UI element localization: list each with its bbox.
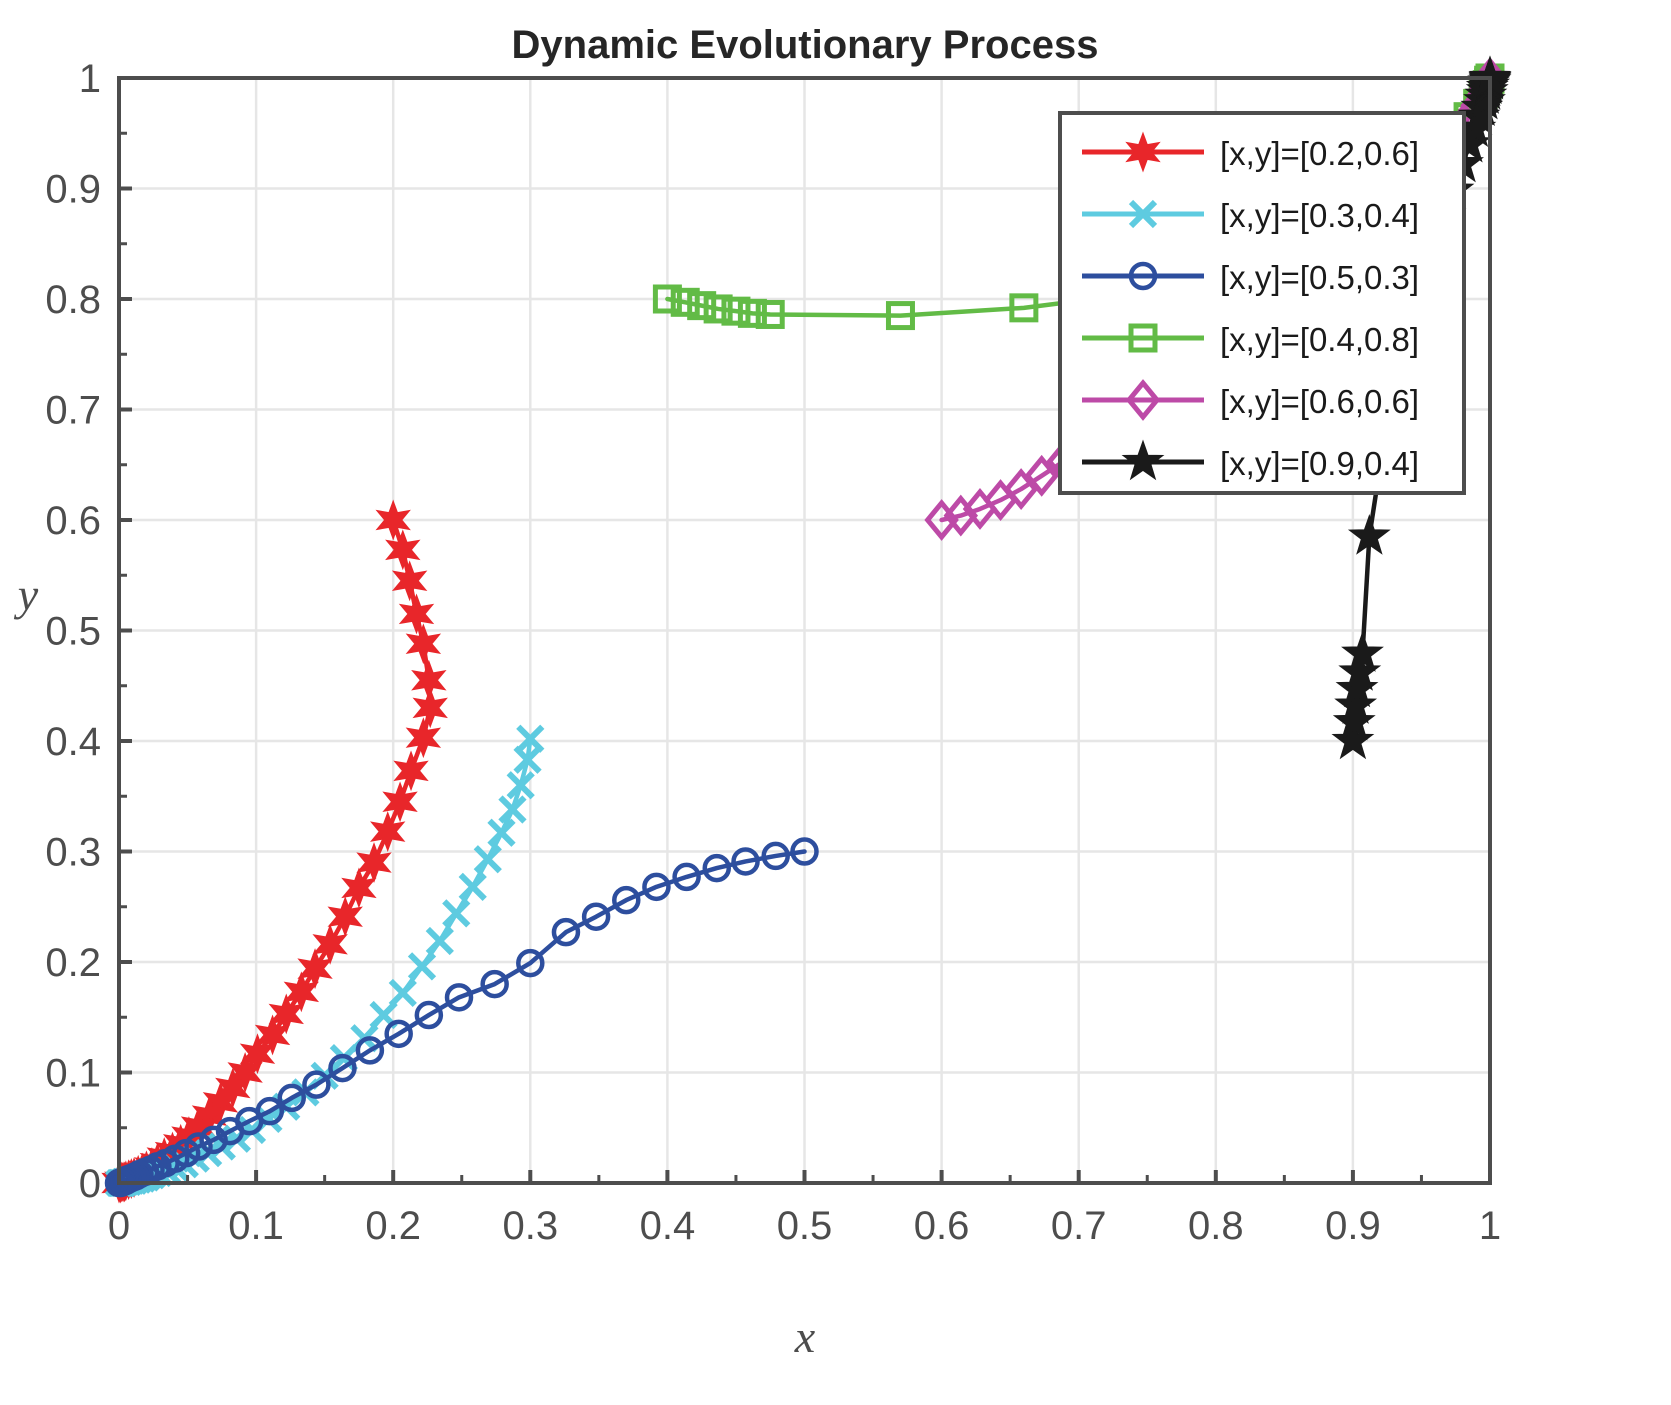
x-tick-label: 0.9: [1325, 1204, 1381, 1248]
y-tick-label: 1: [79, 57, 101, 101]
x-tick-label: 0.8: [1188, 1204, 1244, 1248]
y-tick-label: 0.7: [45, 389, 101, 433]
x-tick-label: 0: [108, 1204, 130, 1248]
y-tick-label: 0.6: [45, 499, 101, 543]
x-tick-label: 0.7: [1051, 1204, 1107, 1248]
y-tick-label: 0.9: [45, 168, 101, 212]
legend-label: [x,y]=[0.5,0.3]: [1220, 259, 1419, 296]
x-tick-label: 0.3: [502, 1204, 558, 1248]
y-tick-label: 0: [79, 1162, 101, 1206]
x-tick-label: 0.4: [640, 1204, 696, 1248]
y-axis-label: y: [14, 569, 39, 620]
legend-label: [x,y]=[0.3,0.4]: [1220, 197, 1419, 234]
x-axis-label: x: [794, 1311, 816, 1362]
legend-item-3[interactable]: [x,y]=[0.4,0.8]: [1082, 321, 1419, 358]
y-tick-label: 0.5: [45, 610, 101, 654]
x-tick-label: 0.2: [365, 1204, 421, 1248]
y-tick-label: 0.2: [45, 941, 101, 985]
x-tick-label: 1: [1479, 1204, 1501, 1248]
legend[interactable]: [x,y]=[0.2,0.6][x,y]=[0.3,0.4][x,y]=[0.5…: [1060, 113, 1464, 493]
y-tick-label: 0.1: [45, 1052, 101, 1096]
legend-label: [x,y]=[0.2,0.6]: [1220, 135, 1419, 172]
figure-root: Dynamic Evolutionary Process 00.10.20.30…: [0, 0, 1671, 1405]
chart-title: Dynamic Evolutionary Process: [512, 23, 1099, 67]
y-tick-label: 0.8: [45, 278, 101, 322]
x-tick-label: 0.5: [777, 1204, 833, 1248]
legend-label: [x,y]=[0.6,0.6]: [1220, 383, 1419, 420]
legend-label: [x,y]=[0.4,0.8]: [1220, 321, 1419, 358]
y-tick-label: 0.4: [45, 720, 101, 764]
x-tick-label: 0.1: [228, 1204, 284, 1248]
legend-label: [x,y]=[0.9,0.4]: [1220, 445, 1419, 482]
x-tick-label: 0.6: [914, 1204, 970, 1248]
chart-canvas: Dynamic Evolutionary Process 00.10.20.30…: [0, 0, 1671, 1405]
y-tick-label: 0.3: [45, 831, 101, 875]
